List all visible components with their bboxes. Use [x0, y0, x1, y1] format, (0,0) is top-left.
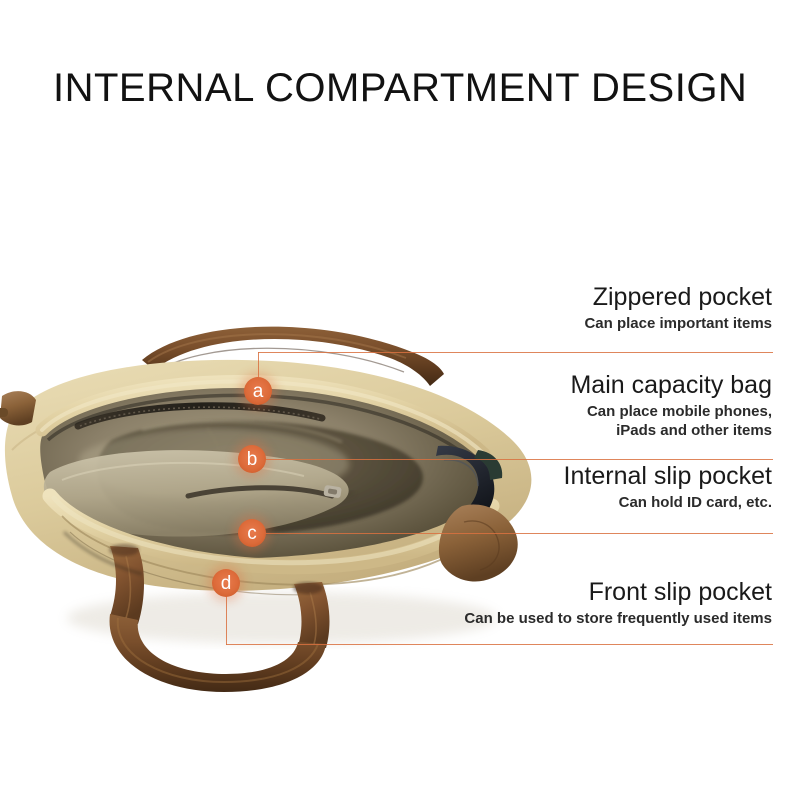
page-title: INTERNAL COMPARTMENT DESIGN — [53, 66, 747, 111]
marker-d[interactable]: d — [212, 569, 240, 597]
marker-a[interactable]: a — [244, 377, 272, 405]
callout-b-subtitle-line-2: iPads and other items — [570, 422, 772, 441]
side-d-ring-tab — [0, 391, 36, 425]
leader-a-horizontal — [258, 352, 773, 353]
callout-d-title: Front slip pocket — [464, 578, 772, 606]
callout-front-slip-pocket: Front slip pocket Can be used to store f… — [464, 578, 772, 629]
marker-c[interactable]: c — [238, 519, 266, 547]
callout-main-capacity-bag: Main capacity bag Can place mobile phone… — [570, 371, 772, 441]
callout-b-subtitle-line-1: Can place mobile phones, — [570, 403, 772, 422]
infographic-canvas: INTERNAL COMPARTMENT DESIGN — [0, 0, 794, 794]
callout-a-subtitle: Can place important items — [584, 315, 772, 334]
callout-b-title: Main capacity bag — [570, 371, 772, 399]
callout-c-title: Internal slip pocket — [564, 462, 772, 490]
product-photo — [0, 300, 552, 700]
leader-c-horizontal — [252, 533, 773, 534]
callout-c-subtitle: Can hold ID card, etc. — [564, 494, 772, 513]
leader-d-horizontal — [226, 644, 773, 645]
marker-b-label: b — [247, 450, 258, 469]
marker-a-label: a — [253, 382, 264, 401]
callout-internal-slip-pocket: Internal slip pocket Can hold ID card, e… — [564, 462, 772, 513]
callout-a-title: Zippered pocket — [584, 283, 772, 311]
marker-d-label: d — [221, 574, 232, 593]
marker-c-label: c — [247, 524, 257, 543]
callout-d-subtitle: Can be used to store frequently used ite… — [464, 610, 772, 629]
leader-b-horizontal — [252, 459, 773, 460]
marker-b[interactable]: b — [238, 445, 266, 473]
callout-zippered-pocket: Zippered pocket Can place important item… — [584, 283, 772, 334]
